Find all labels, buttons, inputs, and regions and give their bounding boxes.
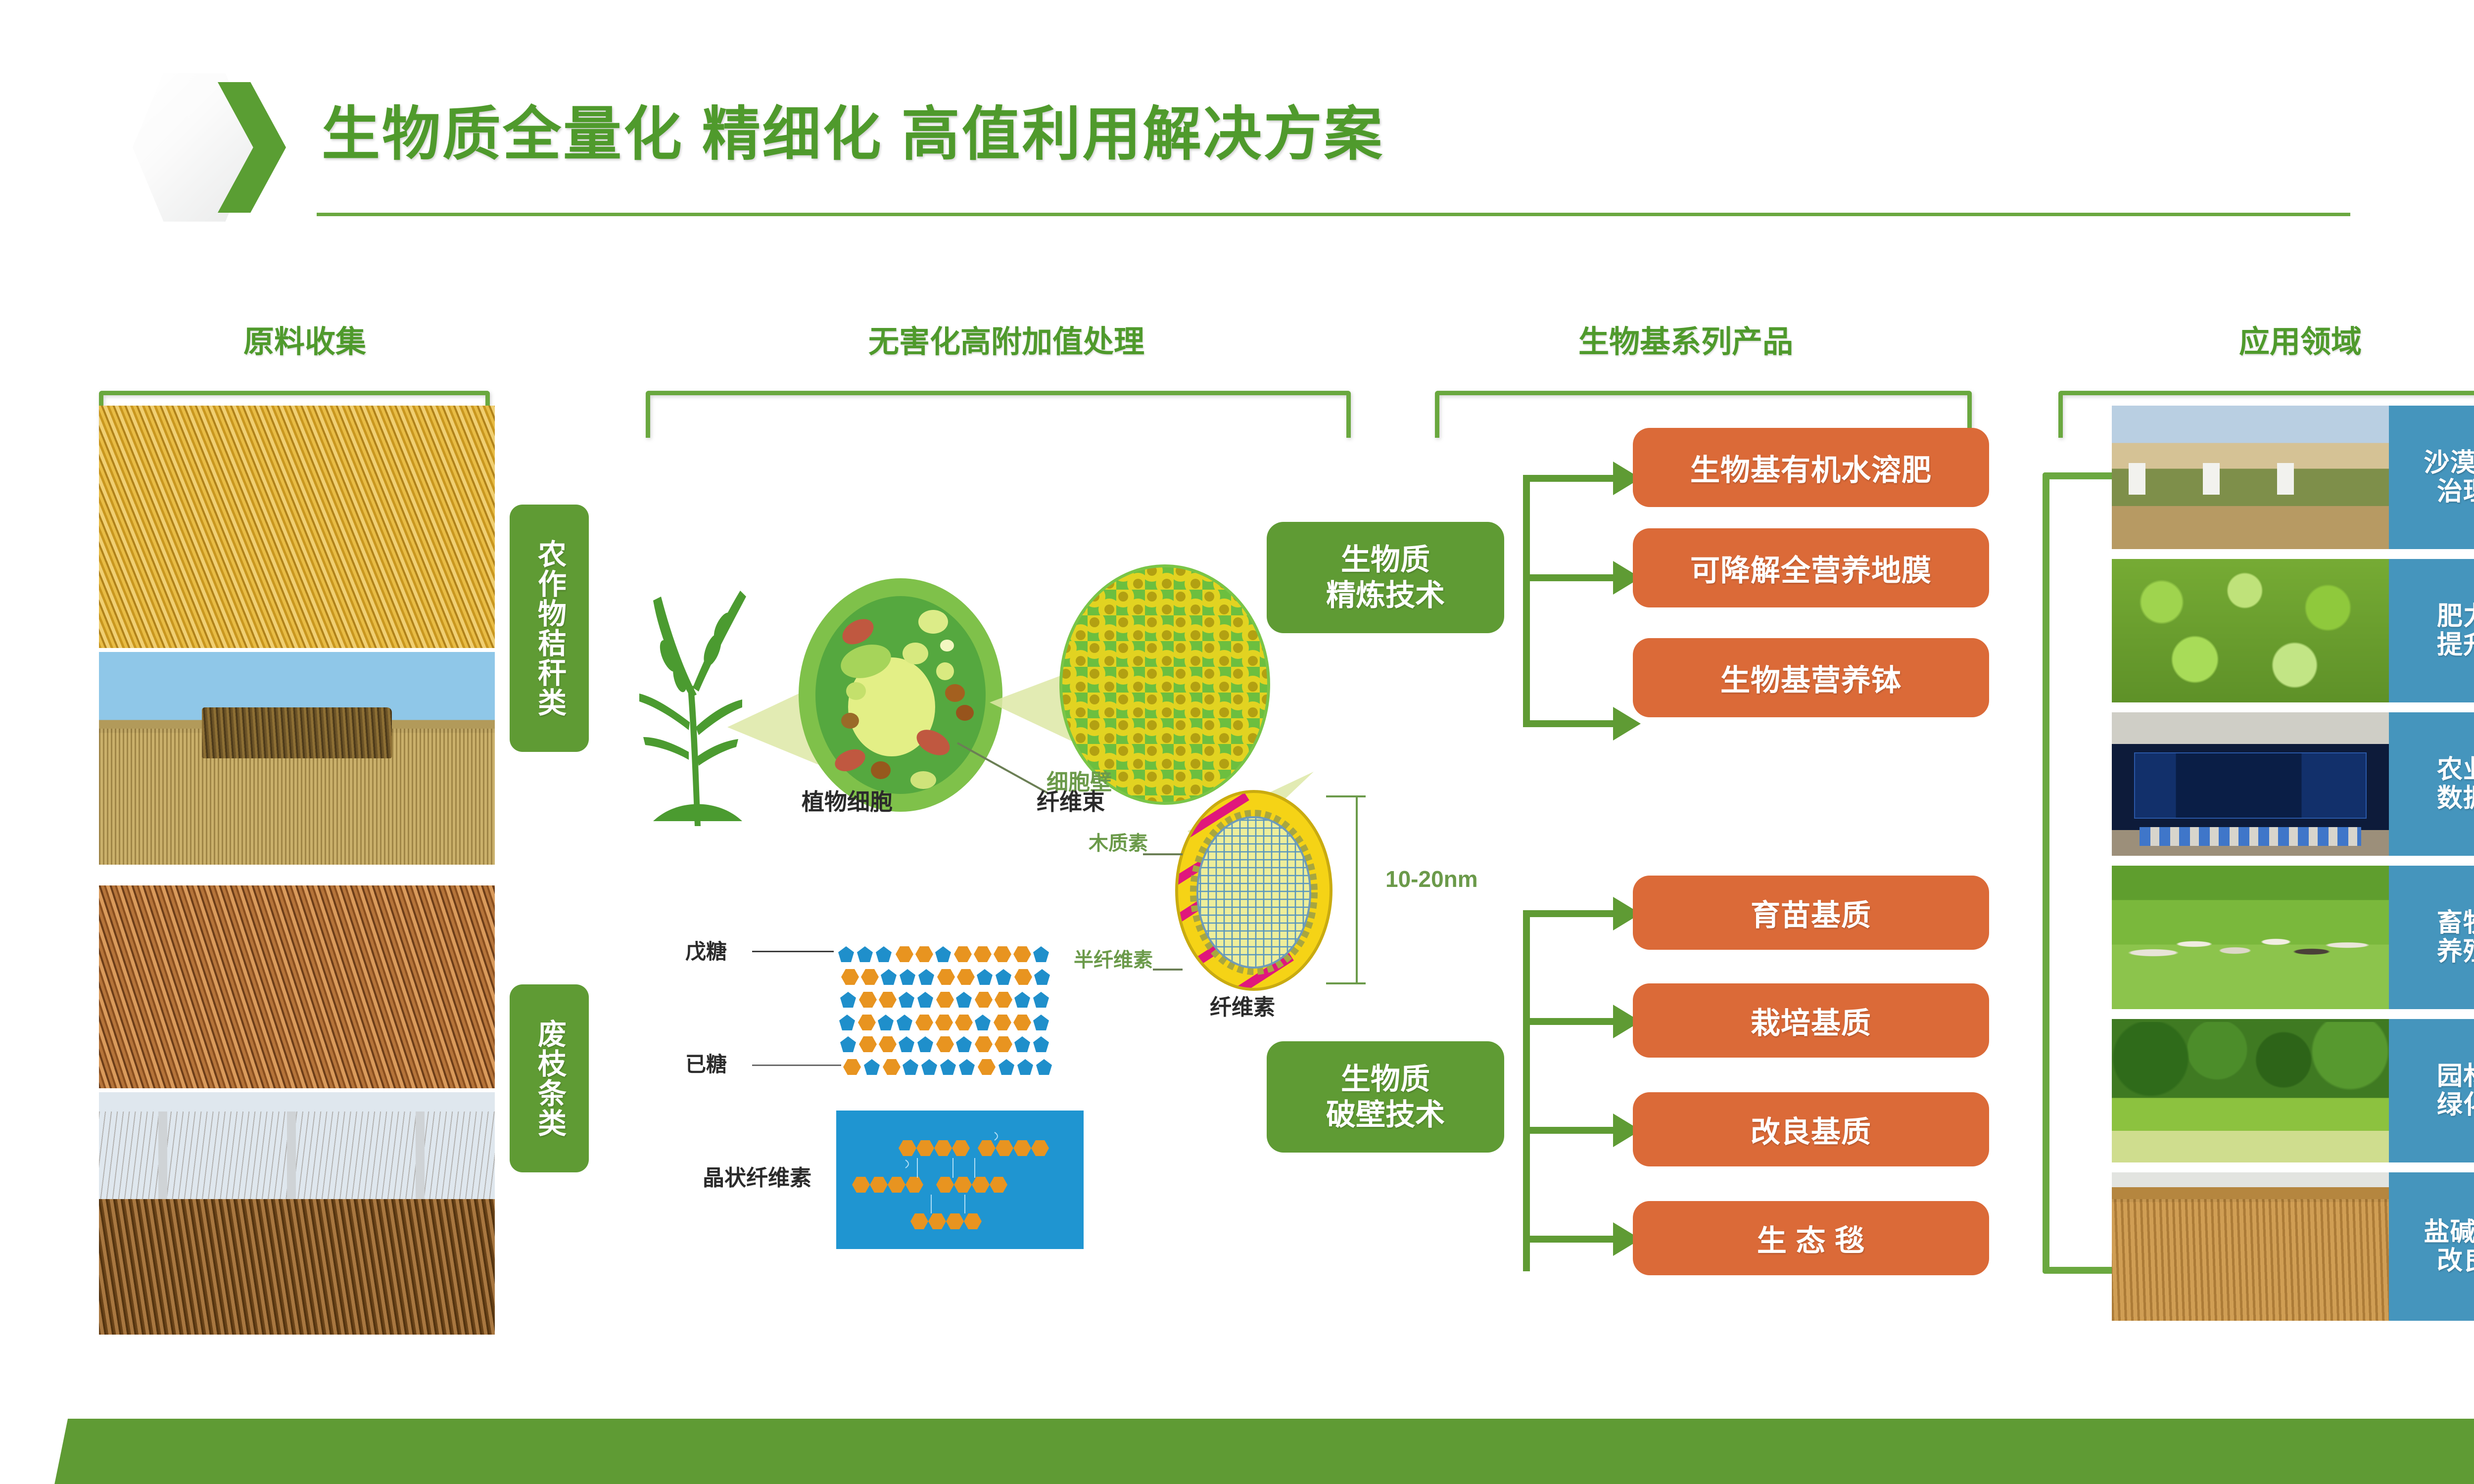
fork-branch-refining-1 — [1523, 475, 1615, 482]
hexose-label: 已糖 — [685, 1048, 727, 1078]
hexagon-chevron-logo — [133, 73, 286, 222]
infographic-slide: 生物质全量化 精细化 高值利用解决方案 原料收集 无害化高附加值处理 生物基系列… — [0, 0, 2474, 1484]
app-label-3: 畜牧 养殖 — [2437, 909, 2474, 966]
app-desertification-control[interactable]: 沙漠化 治理 — [2389, 406, 2474, 549]
fiber-bundle-label: 纤维束 — [1037, 784, 1105, 817]
dry-branches-photo — [99, 885, 495, 1088]
orchard-pruning-photo — [99, 1092, 495, 1335]
corn-straw-field-photo — [99, 406, 495, 648]
section-heading-processing: 无害化高附加值处理 — [868, 317, 1144, 361]
app-agriculture-data[interactable]: 农业 数据 — [2389, 712, 2474, 856]
title-divider — [317, 213, 2350, 216]
pentose-leader-line — [752, 951, 834, 952]
cabbage-field-photo — [2112, 559, 2389, 702]
product-water-soluble-fertilizer[interactable]: 生物基有机水溶肥 — [1633, 428, 1989, 507]
park-trees-photo — [2112, 1019, 2389, 1162]
product-improvement-substrate[interactable]: 改良基质 — [1633, 1092, 1989, 1166]
lignin-leader-line — [1143, 853, 1183, 855]
sugar-chain-illustration — [836, 942, 1153, 1086]
control-room-photo — [2112, 712, 2389, 856]
app-fertility-improvement[interactable]: 肥力 提升 — [2389, 559, 2474, 702]
section-heading-applications: 应用领域 — [2239, 317, 2362, 361]
tech-breaking-line2: 破壁技术 — [1326, 1097, 1445, 1133]
product-biodegradable-mulch-film[interactable]: 可降解全营养地膜 — [1633, 528, 1989, 607]
plant-cell-illustration — [797, 576, 1004, 814]
app-label-4: 园林 绿化 — [2437, 1062, 2474, 1119]
tech-breaking-line1: 生物质 — [1341, 1062, 1430, 1097]
plant-cell-label: 植物细胞 — [802, 784, 893, 817]
fork-branch-breaking-4 — [1523, 1236, 1615, 1243]
fork-branch-refining-3 — [1523, 720, 1615, 727]
bracket-to-applications — [2043, 472, 2112, 1274]
app-saline-land-improvement[interactable]: 盐碱地 改良 — [2389, 1172, 2474, 1321]
app-label-1: 肥力 提升 — [2437, 602, 2474, 659]
app-label-5: 盐碱地 改良 — [2424, 1218, 2474, 1275]
arrow-refining-3 — [1613, 707, 1641, 741]
tech-cellwall-breaking[interactable]: 生物质 破壁技术 — [1267, 1041, 1504, 1153]
straw-bale-field-photo — [99, 652, 495, 865]
cellulose-cross-section-illustration — [1173, 787, 1336, 994]
desert-restoration-photo — [2112, 406, 2389, 549]
product-cultivation-substrate[interactable]: 栽培基质 — [1633, 983, 1989, 1058]
product-ecological-blanket[interactable]: 生 态 毯 — [1633, 1201, 1989, 1275]
dimension-label: 10-20nm — [1385, 866, 1478, 892]
page-title: 生物质全量化 精细化 高值利用解决方案 — [322, 87, 1384, 171]
crystalline-cellulose-illustration — [836, 1111, 1084, 1249]
bracket-processing — [646, 391, 1351, 438]
tag-crop-straw: 农作物秸秆类 — [510, 505, 589, 752]
footer-band — [0, 1419, 2474, 1484]
hexose-leader-line — [752, 1065, 841, 1066]
tech-biomass-refining[interactable]: 生物质 精炼技术 — [1267, 522, 1504, 633]
dimension-caliper-icon — [1326, 791, 1385, 989]
fork-branch-breaking-1 — [1523, 910, 1615, 917]
saline-land-photo — [2112, 1172, 2389, 1321]
sheep-grazing-photo — [2112, 866, 2389, 1009]
fork-branch-breaking-3 — [1523, 1127, 1615, 1134]
app-landscape-greening[interactable]: 园林 绿化 — [2389, 1019, 2474, 1162]
fork-branch-refining-2 — [1523, 574, 1615, 581]
fork-trunk-breaking — [1523, 910, 1530, 1271]
tech-refining-line1: 生物质 — [1341, 542, 1430, 578]
hemicellulose-leader-line — [1153, 969, 1183, 971]
app-label-2: 农业 数据 — [2437, 755, 2474, 813]
section-heading-collection: 原料收集 — [243, 317, 366, 361]
tech-refining-line2: 精炼技术 — [1326, 578, 1445, 613]
pentose-label: 戊糖 — [685, 935, 727, 965]
app-livestock-breeding[interactable]: 畜牧 养殖 — [2389, 866, 2474, 1009]
product-seedling-substrate[interactable]: 育苗基质 — [1633, 876, 1989, 950]
crystalline-cellulose-label: 晶状纤维素 — [703, 1160, 811, 1192]
fork-branch-breaking-2 — [1523, 1018, 1615, 1025]
lignin-label: 木质素 — [1089, 827, 1148, 856]
fork-trunk-refining — [1523, 475, 1530, 727]
cellulose-label: 纤维素 — [1210, 989, 1275, 1021]
app-label-0: 沙漠化 治理 — [2424, 449, 2474, 506]
product-nutrient-pot[interactable]: 生物基营养钵 — [1633, 638, 1989, 717]
section-heading-products: 生物基系列产品 — [1578, 317, 1793, 361]
tag-waste-branch: 废枝条类 — [510, 984, 589, 1172]
